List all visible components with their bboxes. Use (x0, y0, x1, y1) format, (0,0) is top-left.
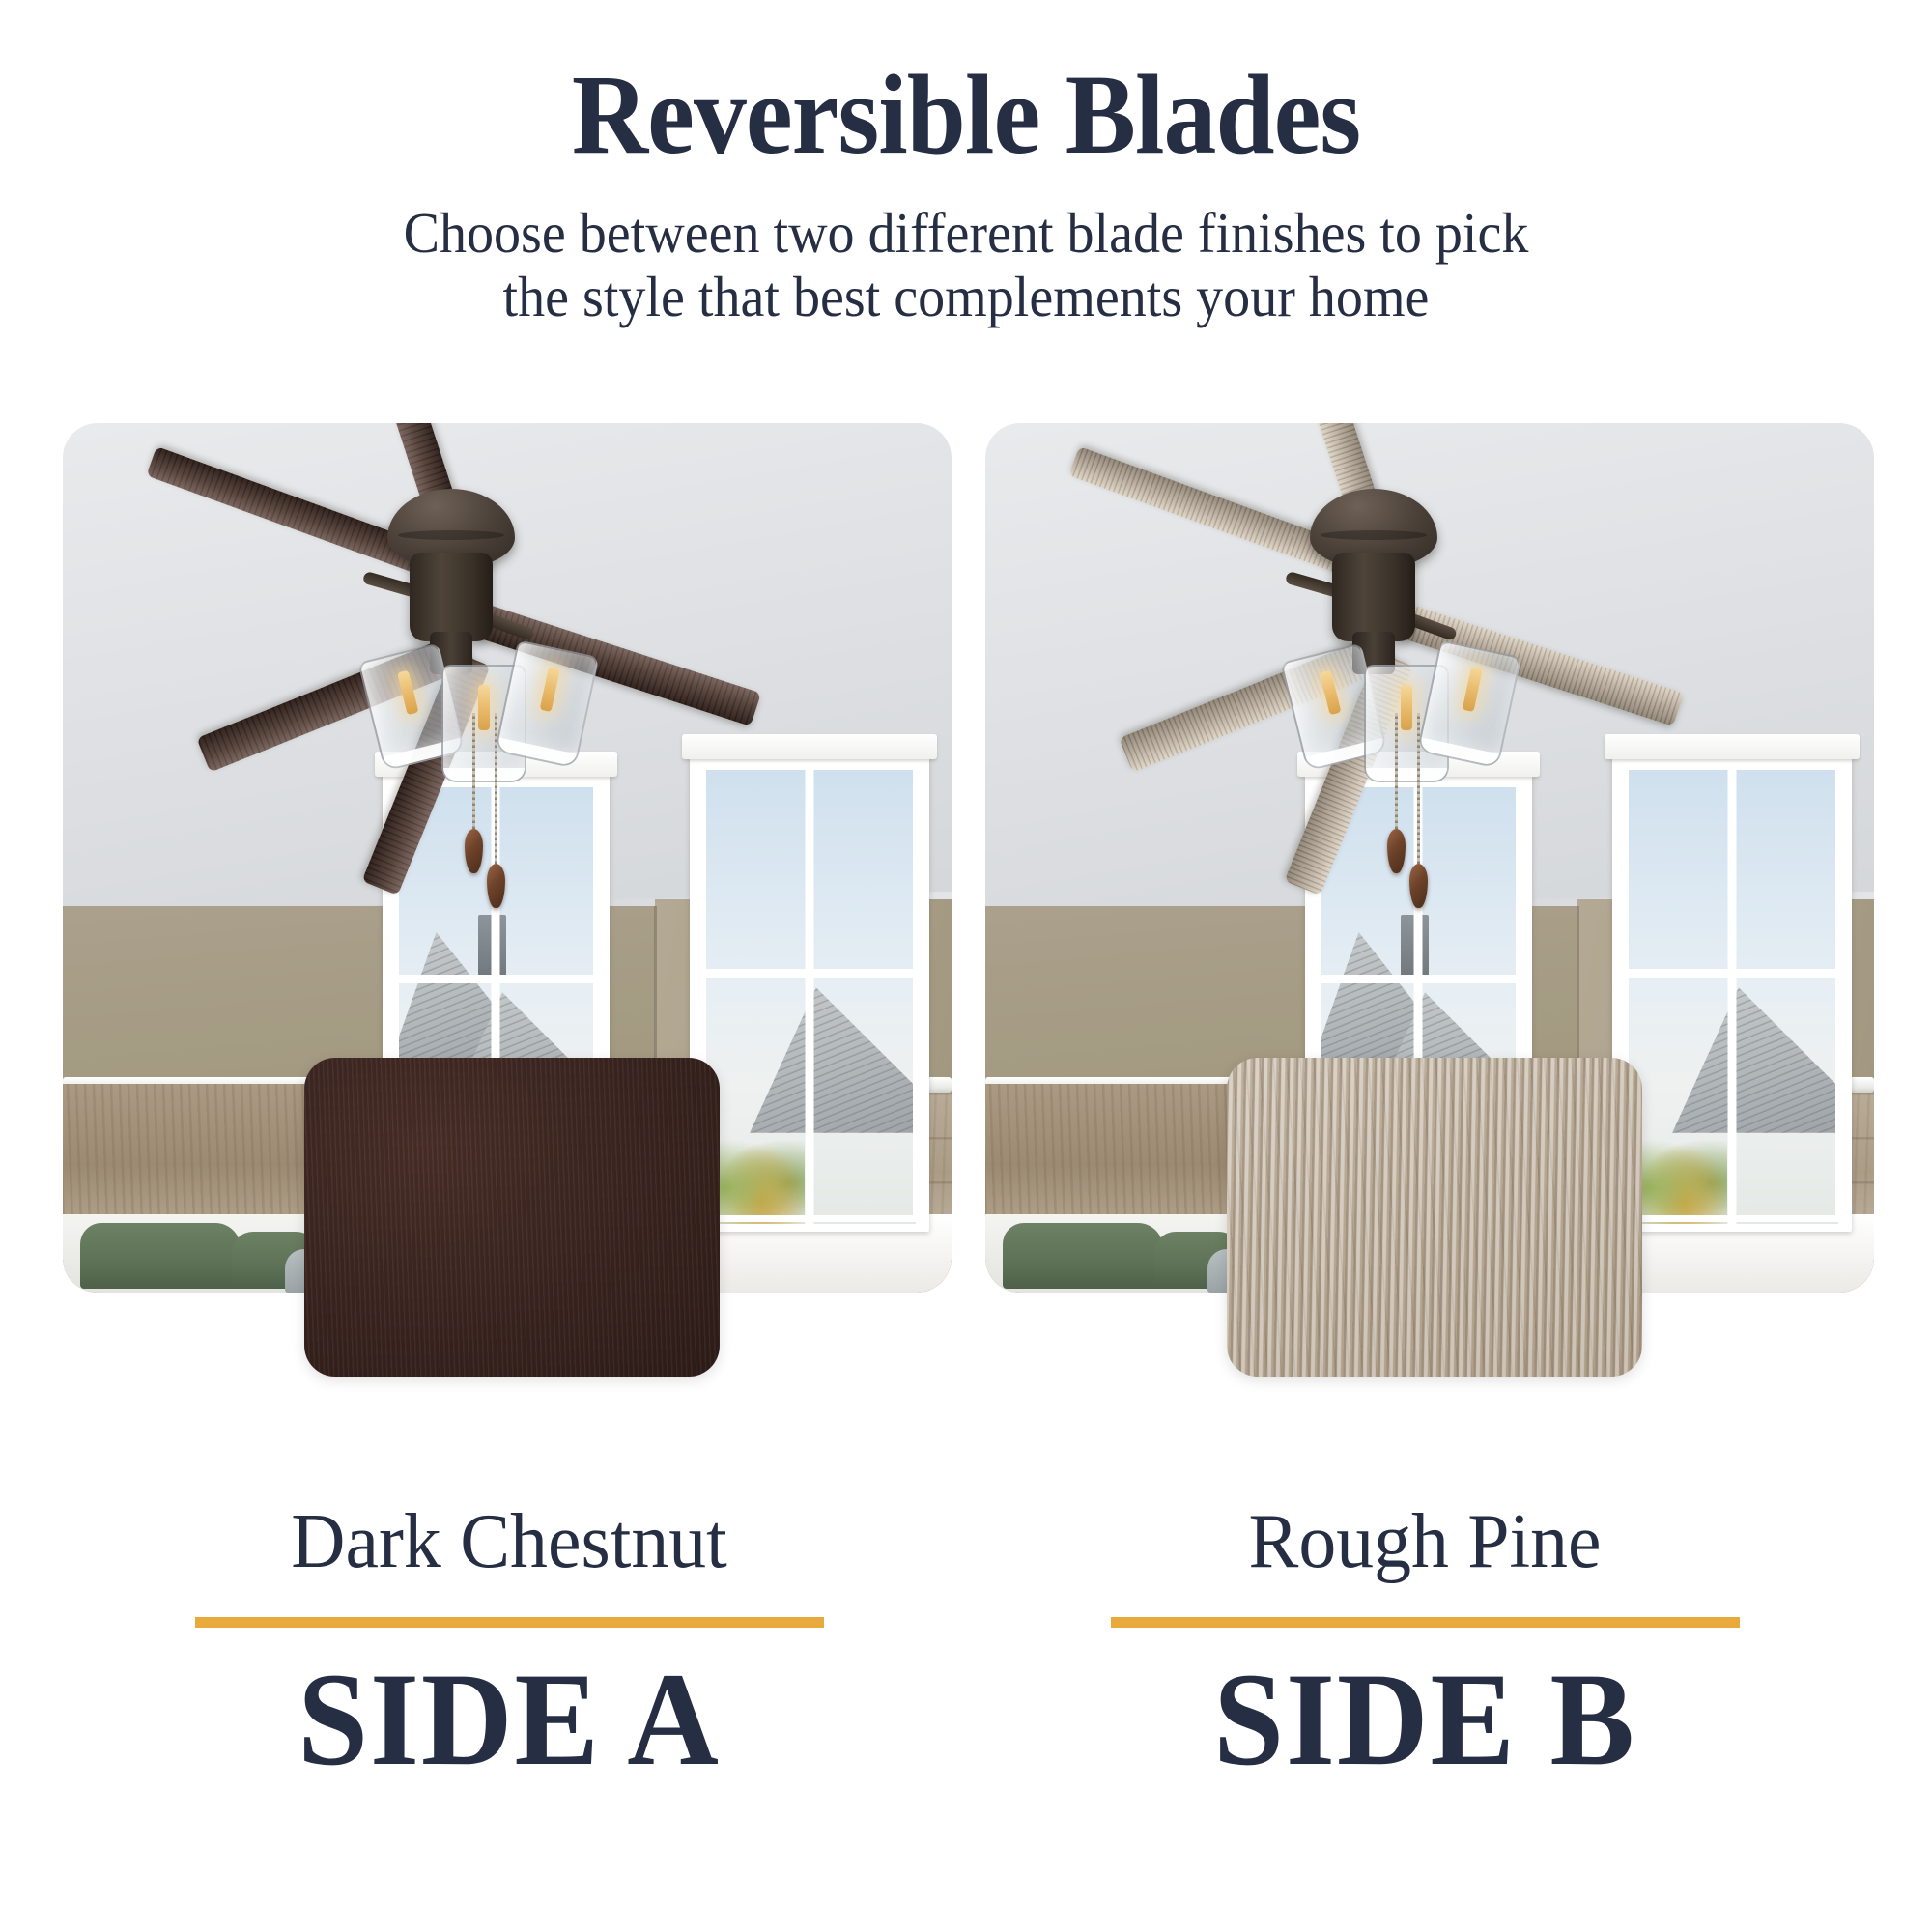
pull-chain-finial (1387, 829, 1406, 873)
pull-chain (1417, 713, 1420, 867)
edison-bulb-filament (1320, 670, 1341, 715)
pull-chain-finial (1409, 864, 1428, 908)
side-label-a: SIDE A (97, 1653, 923, 1786)
finish-label-group-side-b: Rough Pine SIDE B (990, 1502, 1860, 1786)
pull-chain (1395, 713, 1398, 833)
fan-motor-housing (410, 553, 493, 641)
pull-chain (495, 713, 497, 867)
subtitle-line-2: the style that best complements your hom… (48, 265, 1884, 328)
edison-bulb-filament (397, 670, 418, 715)
reversible-blades-infographic: Reversible Blades Choose between two dif… (0, 0, 1932, 1932)
page-subtitle: Choose between two different blade finis… (48, 201, 1884, 328)
pull-chain-finial (465, 829, 483, 873)
header: Reversible Blades Choose between two dif… (0, 58, 1932, 328)
finish-swatch-rough-pine (1227, 1058, 1642, 1377)
finish-name-side-b: Rough Pine (1008, 1502, 1842, 1580)
finish-swatch-dark-chestnut (304, 1058, 720, 1377)
light-shade (1417, 639, 1522, 768)
comparison-panels (0, 423, 1932, 1293)
finish-name-side-a: Dark Chestnut (92, 1502, 926, 1580)
edison-bulb-filament (1401, 685, 1412, 730)
finish-label-group-side-a: Dark Chestnut SIDE A (74, 1502, 944, 1786)
edison-bulb-filament (540, 667, 560, 712)
fan-motor-housing (1332, 553, 1415, 641)
edison-bulb-filament (1463, 667, 1483, 712)
edison-bulb-filament (478, 685, 490, 730)
page-title: Reversible Blades (68, 58, 1864, 172)
subtitle-line-1: Choose between two different blade finis… (404, 201, 1529, 265)
pull-chain (472, 713, 475, 833)
gold-divider-rule (195, 1617, 824, 1628)
pull-chain-finial (487, 864, 505, 908)
gold-divider-rule (1111, 1617, 1740, 1628)
side-label-b: SIDE B (1012, 1653, 1838, 1786)
light-shade (495, 639, 600, 768)
